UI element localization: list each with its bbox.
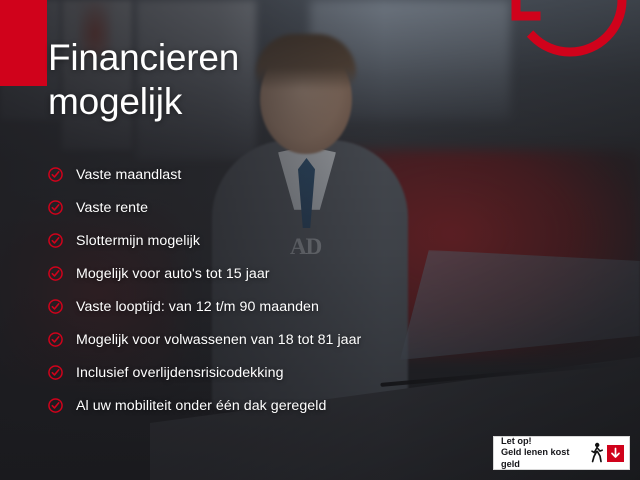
- check-circle-icon: [48, 233, 63, 248]
- list-item: Mogelijk voor auto's tot 15 jaar: [48, 257, 468, 290]
- list-item: Slottermijn mogelijk: [48, 224, 468, 257]
- headline-line-2: mogelijk: [48, 80, 239, 124]
- list-item-label: Slottermijn mogelijk: [76, 233, 200, 249]
- warning-text: Let op! Geld lenen kost geld: [501, 436, 587, 471]
- list-item: Inclusief overlijdensrisicodekking: [48, 356, 468, 389]
- warning-line-1: Let op!: [501, 436, 587, 448]
- list-item-label: Mogelijk voor volwassenen van 18 tot 81 …: [76, 332, 361, 348]
- list-item: Vaste rente: [48, 191, 468, 224]
- feature-list: Vaste maandlast Vaste rente Slottermijn …: [48, 158, 468, 422]
- list-item-label: Al uw mobiliteit onder één dak geregeld: [76, 398, 326, 414]
- list-item-label: Mogelijk voor auto's tot 15 jaar: [76, 266, 270, 282]
- headline-line-1: Financieren: [48, 36, 239, 80]
- red-arc-accent: [508, 0, 632, 62]
- check-circle-icon: [48, 167, 63, 182]
- list-item-label: Inclusief overlijdensrisicodekking: [76, 365, 284, 381]
- promo-banner: AD Financieren mogelijk Vaste maandlast: [0, 0, 640, 480]
- list-item-label: Vaste rente: [76, 200, 148, 216]
- check-circle-icon: [48, 332, 63, 347]
- check-circle-icon: [48, 299, 63, 314]
- headline: Financieren mogelijk: [48, 36, 239, 123]
- warning-line-2: Geld lenen kost geld: [501, 447, 587, 470]
- list-item: Vaste looptijd: van 12 t/m 90 maanden: [48, 290, 468, 323]
- list-item-label: Vaste maandlast: [76, 167, 181, 183]
- list-item: Al uw mobiliteit onder één dak geregeld: [48, 389, 468, 422]
- warning-badge: Let op! Geld lenen kost geld: [493, 436, 630, 470]
- check-circle-icon: [48, 398, 63, 413]
- check-circle-icon: [48, 266, 63, 281]
- pedestrian-icon: [590, 442, 604, 464]
- check-circle-icon: [48, 200, 63, 215]
- list-item-label: Vaste looptijd: van 12 t/m 90 maanden: [76, 299, 319, 315]
- list-item: Mogelijk voor volwassenen van 18 tot 81 …: [48, 323, 468, 356]
- arrow-down-icon: [607, 445, 624, 462]
- check-circle-icon: [48, 365, 63, 380]
- list-item: Vaste maandlast: [48, 158, 468, 191]
- red-square-accent: [0, 0, 47, 86]
